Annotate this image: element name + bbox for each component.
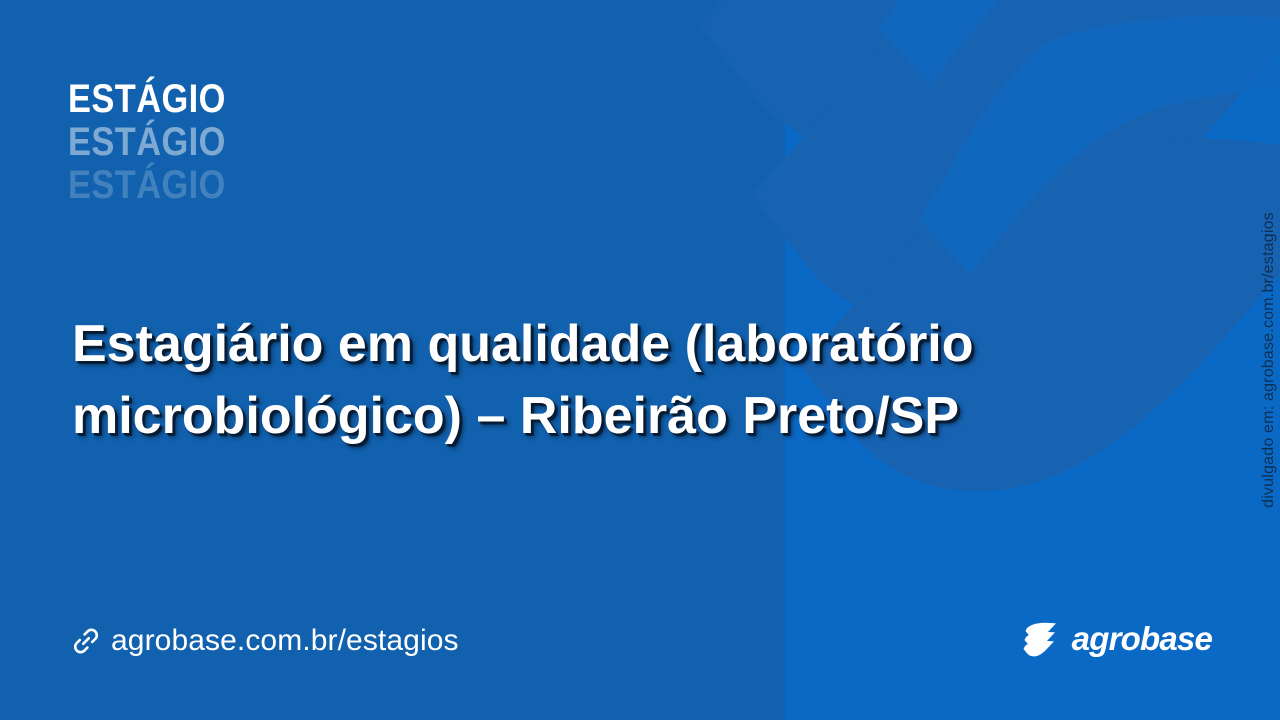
agrobase-logo[interactable]: agrobase (1019, 620, 1212, 658)
agrobase-wordmark: agrobase (1072, 620, 1212, 658)
credit-vertical-text: divulgado em: agrobase.com.br/estagios (1260, 212, 1278, 508)
site-url[interactable]: agrobase.com.br/estagios (72, 624, 459, 658)
job-vacancy-banner: ESTÁGIO ESTÁGIO ESTÁGIO Estagiário em qu… (0, 0, 1280, 720)
agrobase-layers-icon (1019, 621, 1063, 657)
kicker-stack: ESTÁGIO ESTÁGIO ESTÁGIO (68, 78, 252, 207)
link-icon (72, 627, 100, 655)
page-title-line-1: Estagiário em qualidade (laboratório (72, 308, 1132, 380)
page-title-line-2: microbiológico) – Ribeirão Preto/SP (72, 380, 1132, 452)
kicker-line-3: ESTÁGIO (68, 164, 226, 207)
kicker-line-2: ESTÁGIO (68, 121, 226, 164)
site-url-text: agrobase.com.br/estagios (111, 624, 459, 658)
page-title: Estagiário em qualidade (laboratório mic… (72, 308, 1132, 452)
kicker-line-1: ESTÁGIO (68, 78, 226, 121)
